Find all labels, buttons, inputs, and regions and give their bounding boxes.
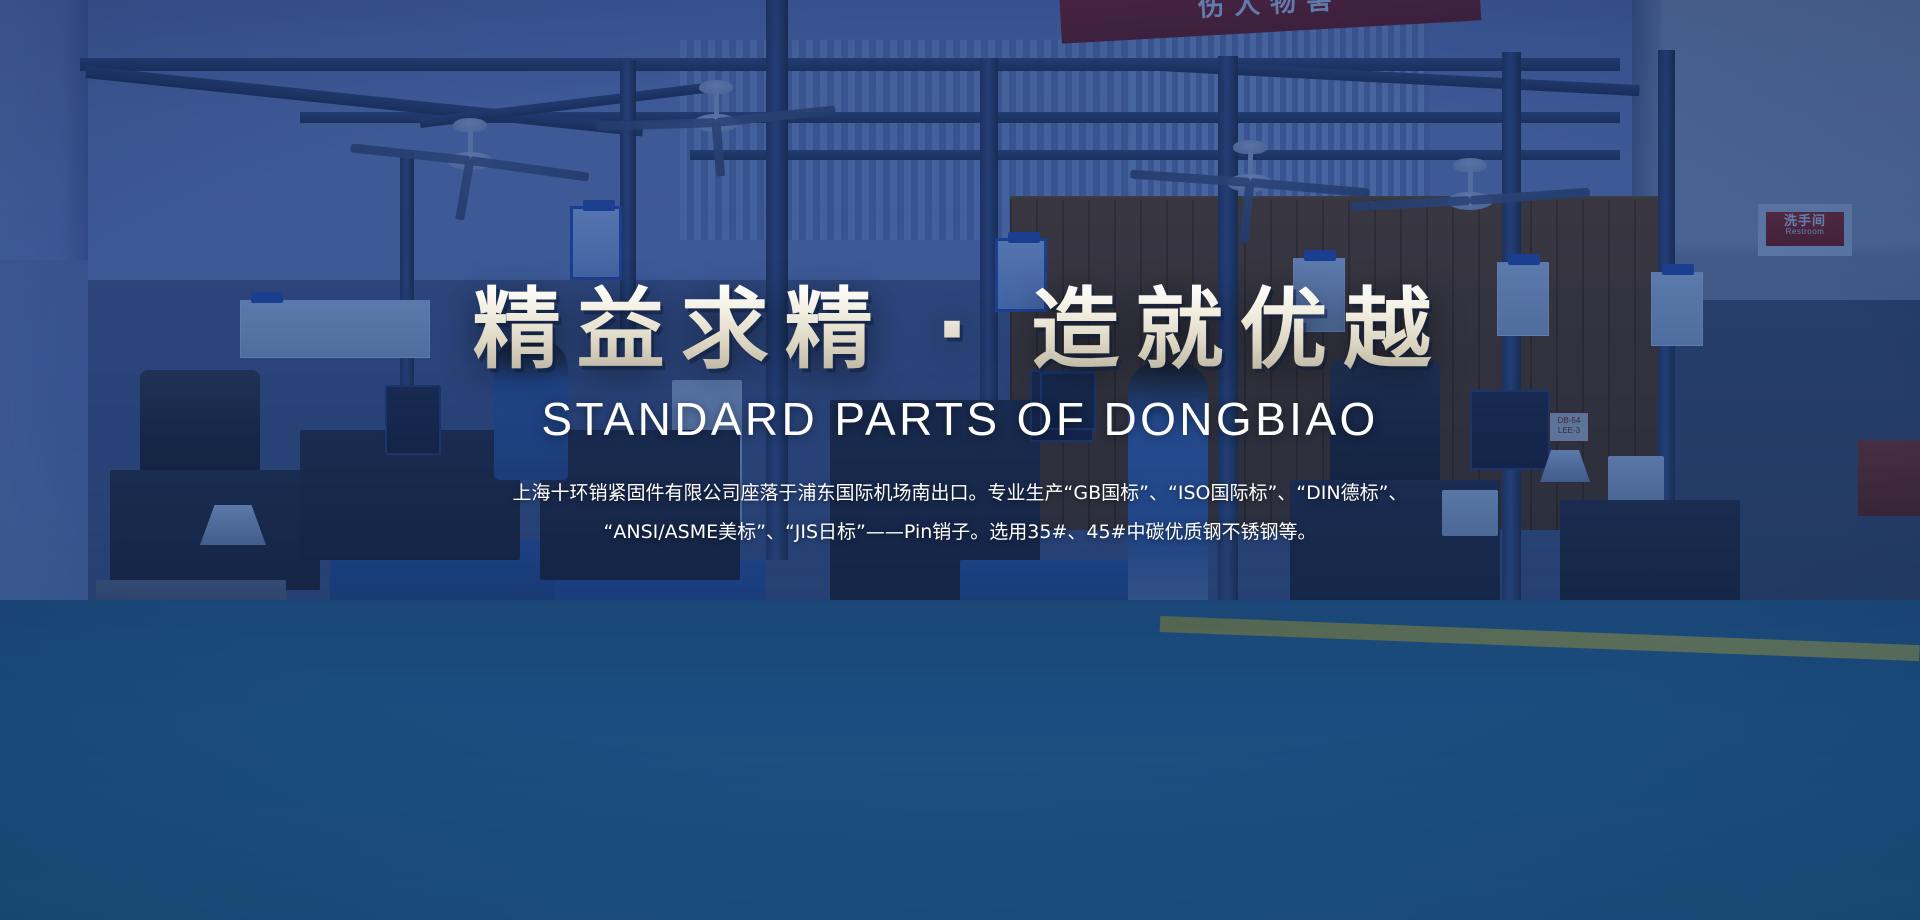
hero-copy-block: 精益求精 · 造就优越 STANDARD PARTS OF DONGBIAO 上…: [0, 0, 1920, 920]
hero-headline: 精益求精 · 造就优越: [473, 283, 1448, 376]
hero-description: 上海十环销紧固件有限公司座落于浦东国际机场南出口。专业生产“GB国标”、“ISO…: [504, 474, 1416, 552]
hero-subheadline: STANDARD PARTS OF DONGBIAO: [541, 392, 1378, 446]
hero-banner: DB-54 LEE-3 伤人物害 洗手间 Restroom 精益求精 · 造就优…: [0, 0, 1920, 920]
